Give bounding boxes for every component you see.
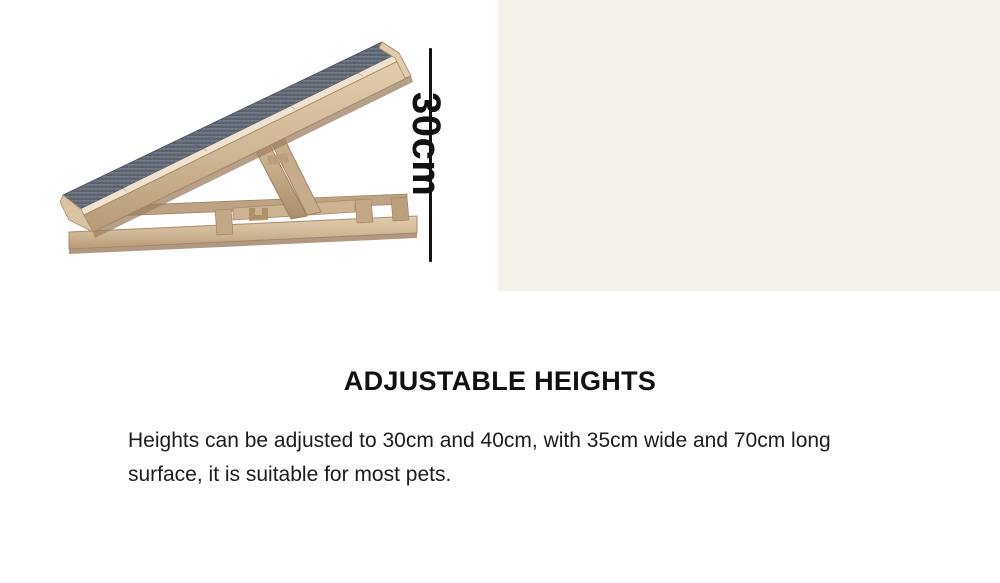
pet-ramp-illustration-30cm (55, 20, 425, 275)
panel-height-40: 40cm (498, 0, 1000, 291)
copy-block: ADJUSTABLE HEIGHTS Heights can be adjust… (0, 291, 1000, 492)
image-band: 30cm (0, 0, 1000, 291)
product-feature-image: 30cm (0, 0, 1000, 583)
body-text: Heights can be adjusted to 30cm and 40cm… (128, 424, 868, 492)
dimension-label-30cm: 30cm (406, 92, 446, 196)
panel-height-30: 30cm (0, 0, 498, 291)
headline: ADJUSTABLE HEIGHTS (0, 366, 1000, 397)
